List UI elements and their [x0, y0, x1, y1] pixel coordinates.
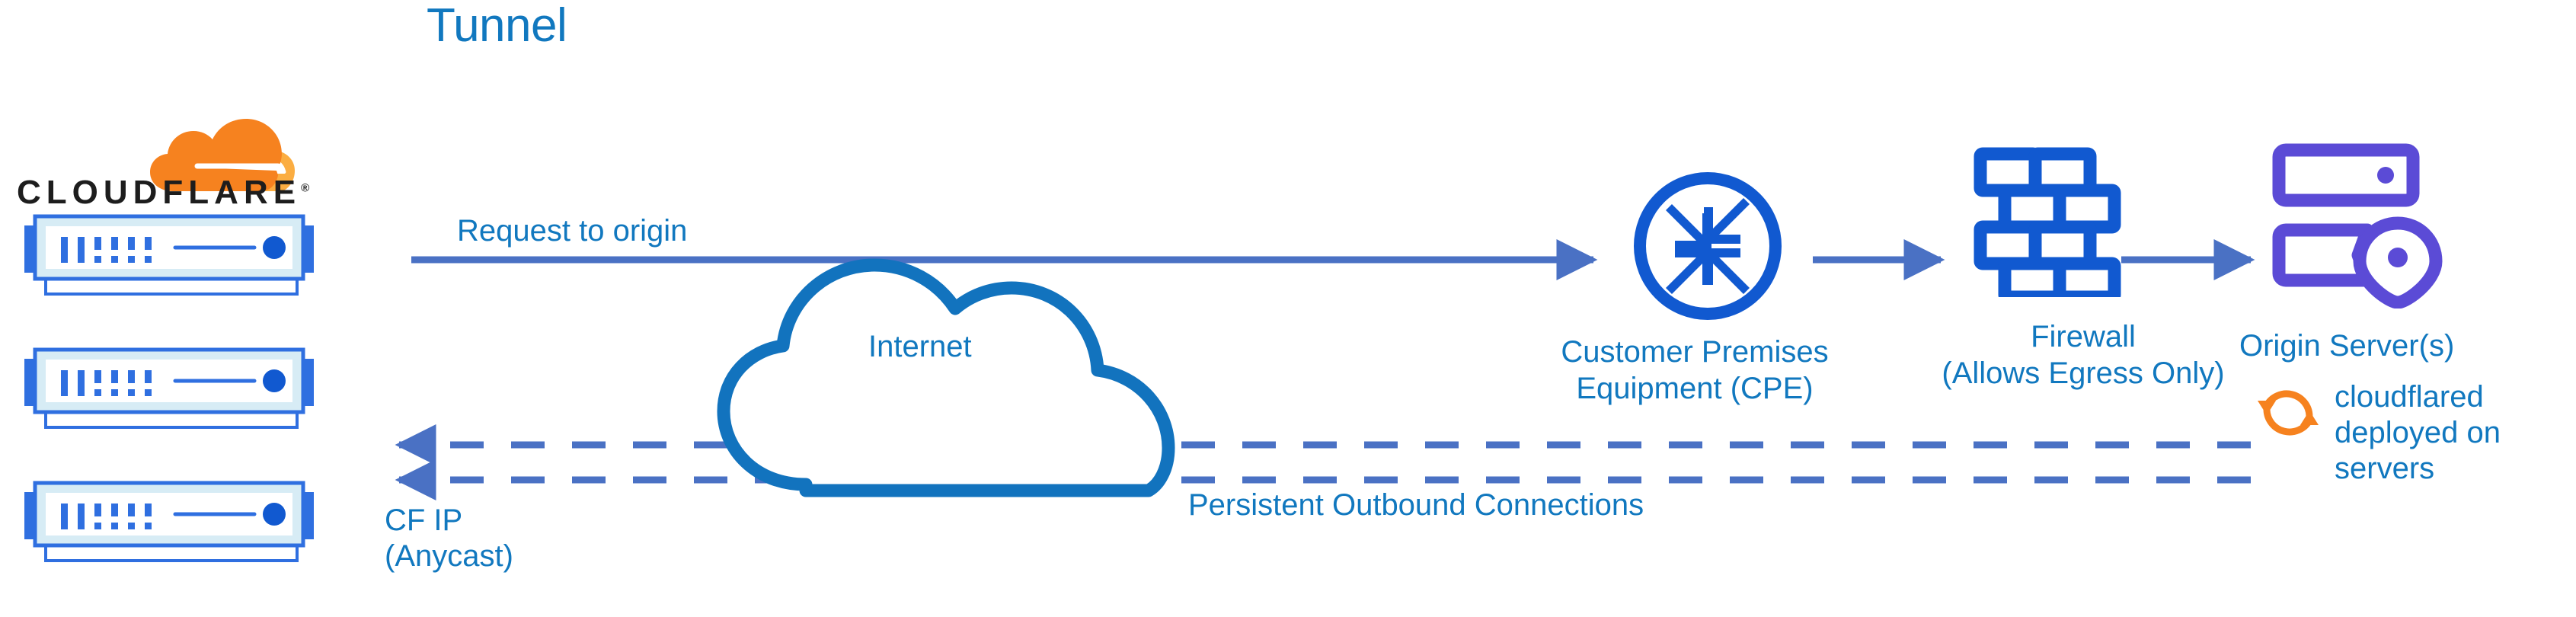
edge-server-2[interactable] — [9, 345, 329, 435]
brick-wall-icon[interactable] — [1971, 145, 2124, 297]
cf-ip-label-line2: (Anycast) — [385, 539, 513, 574]
firewall-label-line1: Firewall — [1870, 318, 2296, 355]
cloudflared-label: cloudflared deployed on servers — [2335, 379, 2501, 486]
cloudflared-label-line3: servers — [2335, 451, 2501, 487]
cpe-label: Customer Premises Equipment (CPE) — [1489, 334, 1900, 407]
internet-label: Internet — [868, 329, 972, 365]
cloudflared-label-line2: deployed on — [2335, 415, 2501, 451]
cloudflare-wordmark-text: CLOUDFLARE — [17, 174, 301, 211]
page-title: Tunnel — [427, 0, 567, 53]
request-to-origin-label: Request to origin — [457, 213, 687, 249]
cf-ip-label-line1: CF IP — [385, 503, 513, 539]
cpe-label-line1: Customer Premises — [1489, 334, 1900, 370]
persistent-outbound-label: Persistent Outbound Connections — [1188, 488, 1644, 523]
firewall-label-line2: (Allows Egress Only) — [1870, 355, 2296, 392]
cloud-outline-icon — [708, 229, 1188, 503]
firewall-label: Firewall (Allows Egress Only) — [1870, 318, 2296, 392]
edge-server-3[interactable] — [9, 478, 329, 568]
registered-trademark-icon: ® — [301, 181, 309, 194]
edge-server-1[interactable] — [9, 212, 329, 302]
diagram-canvas: Tunnel CLOUDFLARE® — [0, 0, 2576, 617]
cpe-label-line2: Equipment (CPE) — [1489, 370, 1900, 407]
sync-circular-arrows-icon — [2253, 378, 2323, 448]
origin-server-label: Origin Server(s) — [2239, 328, 2574, 364]
cloudflare-wordmark: CLOUDFLARE® — [17, 174, 337, 209]
router-arrows-circle-icon[interactable] — [1628, 166, 1788, 326]
cf-ip-label: CF IP (Anycast) — [385, 503, 513, 574]
cloudflared-label-line1: cloudflared — [2335, 379, 2501, 415]
server-rack-location-pin-icon[interactable] — [2270, 141, 2453, 308]
